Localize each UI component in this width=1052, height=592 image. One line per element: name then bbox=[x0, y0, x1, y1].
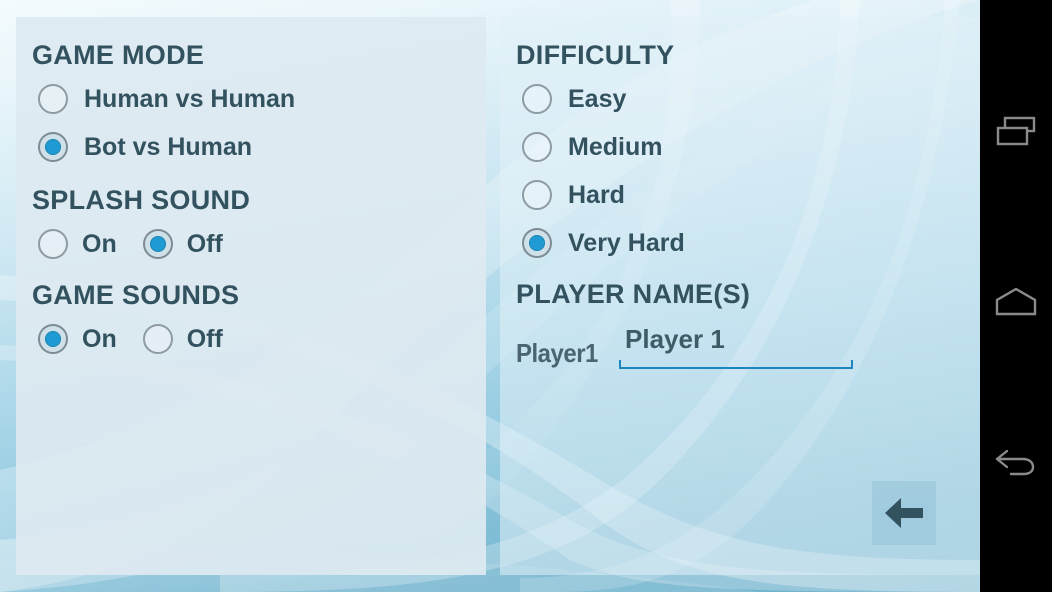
radio-group-game-sounds: On Off bbox=[38, 319, 462, 359]
radio-label-bot-vs-human: Bot vs Human bbox=[84, 133, 252, 162]
right-column-content: DIFFICULTY Easy Medium Hard Very Hard PL… bbox=[516, 40, 956, 373]
recents-icon bbox=[994, 114, 1038, 150]
radio-icon-splash-off[interactable] bbox=[143, 229, 173, 259]
android-navigation-bar bbox=[980, 0, 1052, 592]
player-1-field bbox=[619, 324, 853, 369]
underline-tick-left bbox=[619, 360, 621, 369]
radio-option-bot-vs-human[interactable]: Bot vs Human bbox=[38, 127, 462, 167]
radio-icon-bot-vs-human[interactable] bbox=[38, 132, 68, 162]
nav-home-button[interactable] bbox=[980, 266, 1052, 338]
nav-back-button[interactable] bbox=[980, 426, 1052, 498]
player-name-row: Player1 bbox=[516, 324, 956, 369]
section-title-splash-sound: SPLASH SOUND bbox=[32, 185, 462, 216]
radio-icon-human-vs-human[interactable] bbox=[38, 84, 68, 114]
group-game-sounds: GAME SOUNDS On Off bbox=[32, 280, 462, 359]
left-column-content: GAME MODE Human vs Human Bot vs Human SP… bbox=[32, 40, 462, 367]
radio-label-splash-on: On bbox=[82, 230, 117, 259]
radio-label-human-vs-human: Human vs Human bbox=[84, 85, 295, 114]
radio-label-sounds-on: On bbox=[82, 325, 117, 354]
section-title-difficulty: DIFFICULTY bbox=[516, 40, 956, 71]
radio-label-sounds-off: Off bbox=[187, 325, 223, 354]
radio-icon-easy[interactable] bbox=[522, 84, 552, 114]
radio-label-very-hard: Very Hard bbox=[568, 229, 685, 258]
nav-recents-button[interactable] bbox=[980, 96, 1052, 168]
radio-label-splash-off: Off bbox=[187, 230, 223, 259]
radio-option-very-hard[interactable]: Very Hard bbox=[522, 223, 956, 263]
group-game-mode: GAME MODE Human vs Human Bot vs Human bbox=[32, 40, 462, 167]
radio-icon-sounds-on[interactable] bbox=[38, 324, 68, 354]
back-icon bbox=[993, 443, 1039, 481]
player-1-label: Player1 bbox=[516, 338, 598, 369]
radio-option-human-vs-human[interactable]: Human vs Human bbox=[38, 79, 462, 119]
home-icon bbox=[993, 286, 1039, 318]
radio-icon-medium[interactable] bbox=[522, 132, 552, 162]
group-player-names: PLAYER NAME(S) Player1 bbox=[516, 279, 956, 369]
radio-label-easy: Easy bbox=[568, 85, 626, 114]
player-1-input[interactable] bbox=[619, 324, 853, 359]
group-splash-sound: SPLASH SOUND On Off bbox=[32, 185, 462, 264]
screen: GAME MODE Human vs Human Bot vs Human SP… bbox=[0, 0, 1052, 592]
app-back-button[interactable] bbox=[872, 481, 936, 545]
player-1-input-underline bbox=[619, 359, 853, 369]
section-title-game-mode: GAME MODE bbox=[32, 40, 462, 71]
radio-icon-splash-on[interactable] bbox=[38, 229, 68, 259]
radio-label-hard: Hard bbox=[568, 181, 625, 210]
radio-icon-very-hard[interactable] bbox=[522, 228, 552, 258]
group-difficulty: DIFFICULTY Easy Medium Hard Very Hard bbox=[516, 40, 956, 263]
underline-tick-right bbox=[851, 360, 853, 369]
radio-option-medium[interactable]: Medium bbox=[522, 127, 956, 167]
section-title-player-names: PLAYER NAME(S) bbox=[516, 279, 956, 310]
radio-option-hard[interactable]: Hard bbox=[522, 175, 956, 215]
radio-label-medium: Medium bbox=[568, 133, 662, 162]
radio-icon-sounds-off[interactable] bbox=[143, 324, 173, 354]
radio-group-splash-sound: On Off bbox=[38, 224, 462, 264]
radio-icon-hard[interactable] bbox=[522, 180, 552, 210]
arrow-left-icon bbox=[881, 493, 927, 533]
section-title-game-sounds: GAME SOUNDS bbox=[32, 280, 462, 311]
radio-option-easy[interactable]: Easy bbox=[522, 79, 956, 119]
